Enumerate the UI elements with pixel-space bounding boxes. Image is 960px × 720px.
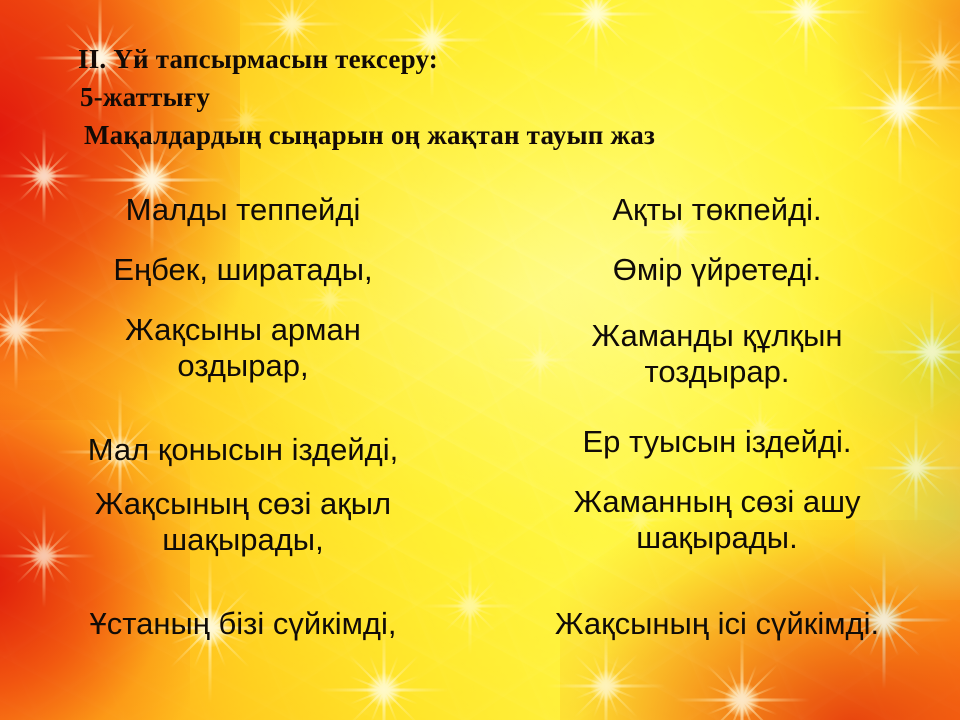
proverb-line: тоздырар. [478,354,956,390]
proverb-line: Өмір үйретеді. [478,254,956,285]
heading-block: II. Үй тапсырмасын тексеру: 5-жаттығу Ма… [78,40,878,154]
proverb-line: Жақсының сөзі ақыл [8,486,478,522]
proverb-line: Еңбек, ширатады, [8,254,478,285]
proverb-right-item[interactable]: Жақсының ісі сүйкімді. [478,608,956,639]
proverb-line: шақырады, [8,522,478,558]
heading-line-1: II. Үй тапсырмасын тексеру: [78,40,878,78]
proverb-left-item[interactable]: Мал қонысын іздейді, [8,434,478,465]
slide-canvas: II. Үй тапсырмасын тексеру: 5-жаттығу Ма… [0,0,960,720]
slide-content: II. Үй тапсырмасын тексеру: 5-жаттығу Ма… [0,0,960,720]
proverb-left-item[interactable]: Жақсыны арманоздырар, [8,312,478,384]
proverb-line: Мал қонысын іздейді, [8,434,478,465]
proverb-column-left: Малды теппейдіЕңбек, ширатады,Жақсыны ар… [8,186,478,686]
proverb-left-item[interactable]: Жақсының сөзі ақылшақырады, [8,486,478,558]
proverb-line: Ақты төкпейді. [478,194,956,225]
proverb-left-item[interactable]: Малды теппейді [8,194,478,225]
proverb-left-item[interactable]: Еңбек, ширатады, [8,254,478,285]
proverb-line: Ер туысын іздейді. [478,426,956,457]
proverb-line: Жақсының ісі сүйкімді. [478,608,956,639]
proverb-right-item[interactable]: Ақты төкпейді. [478,194,956,225]
proverb-line: оздырар, [8,348,478,384]
proverb-line: Жаманның сөзі ашу [478,484,956,520]
proverb-left-item[interactable]: Ұстаның бізі сүйкімді, [8,608,478,639]
proverb-line: Ұстаның бізі сүйкімді, [8,608,478,639]
proverb-line: Жаманды құлқын [478,318,956,354]
proverb-matching-columns: Малды теппейдіЕңбек, ширатады,Жақсыны ар… [0,186,960,686]
proverb-line: Жақсыны арман [8,312,478,348]
proverb-right-item[interactable]: Жаманды құлқынтоздырар. [478,318,956,390]
proverb-right-item[interactable]: Жаманның сөзі ашушақырады. [478,484,956,556]
proverb-line: шақырады. [478,520,956,556]
heading-line-3: Мақалдардың сыңарын оң жақтан тауып жаз [84,116,878,154]
proverb-right-item[interactable]: Ер туысын іздейді. [478,426,956,457]
proverb-line: Малды теппейді [8,194,478,225]
heading-line-2: 5-жаттығу [80,78,878,116]
proverb-column-right: Ақты төкпейді.Өмір үйретеді.Жаманды құлқ… [478,186,956,686]
proverb-right-item[interactable]: Өмір үйретеді. [478,254,956,285]
